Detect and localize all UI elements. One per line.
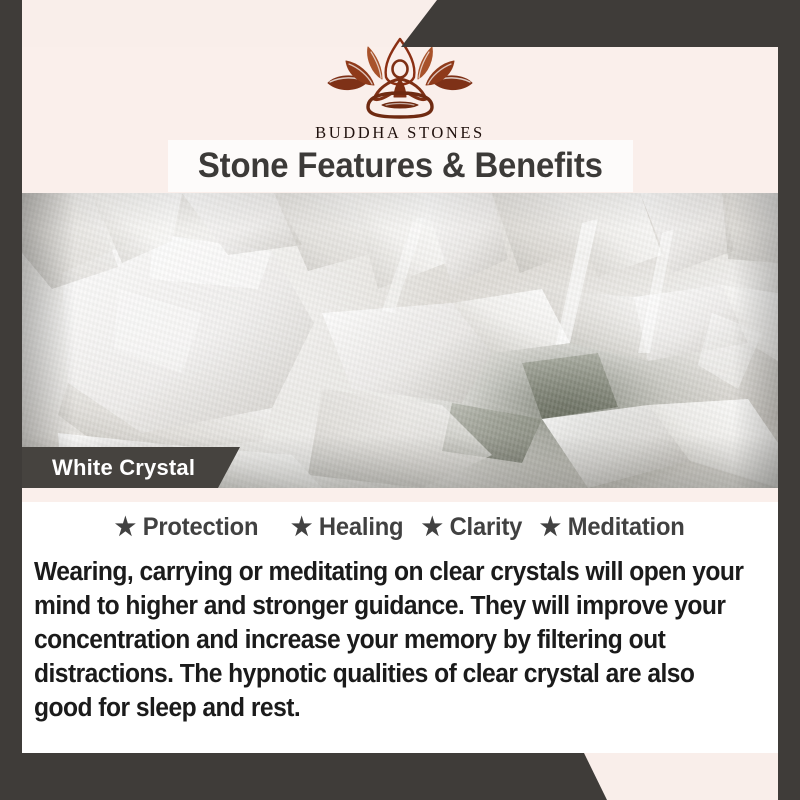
benefit-label: Meditation: [568, 513, 685, 542]
benefit-item-protection: ★ Protection: [115, 513, 258, 542]
star-icon: ★: [421, 515, 442, 540]
benefit-item-clarity: ★ Clarity: [421, 513, 522, 542]
benefit-item-healing: ★ Healing: [291, 513, 403, 542]
badge-label: White Crystal: [22, 455, 195, 481]
benefit-label: Healing: [319, 513, 403, 542]
lotus-meditation-icon: [316, 35, 484, 119]
panel-top-tint: [22, 488, 778, 502]
white-crystal-cluster-photo: [22, 193, 778, 488]
benefits-row: ★ Protection ★ Healing ★ Clarity ★ Medit…: [22, 513, 778, 542]
photo-vignette: [22, 193, 778, 488]
benefit-item-meditation: ★ Meditation: [540, 513, 685, 542]
frame-left-edge: [0, 0, 22, 800]
infographic-card: White Crystal ★ Protection ★ Healing ★ C…: [0, 0, 800, 800]
benefit-label: Clarity: [449, 513, 522, 542]
description-paragraph: Wearing, carrying or meditating on clear…: [34, 555, 744, 725]
frame-right-edge: [778, 0, 800, 800]
benefit-label: Protection: [143, 513, 259, 542]
star-icon: ★: [115, 515, 136, 540]
content-panel: ★ Protection ★ Healing ★ Clarity ★ Medit…: [22, 488, 778, 753]
title-banner: Stone Features & Benefits: [168, 140, 633, 192]
page-title: Stone Features & Benefits: [198, 146, 603, 186]
star-icon: ★: [540, 515, 561, 540]
status-badge: White Crystal: [22, 447, 240, 488]
frame-bottom-band: [0, 753, 800, 800]
logo-lockup: BUDDHA STONES: [22, 35, 778, 143]
star-icon: ★: [291, 515, 312, 540]
